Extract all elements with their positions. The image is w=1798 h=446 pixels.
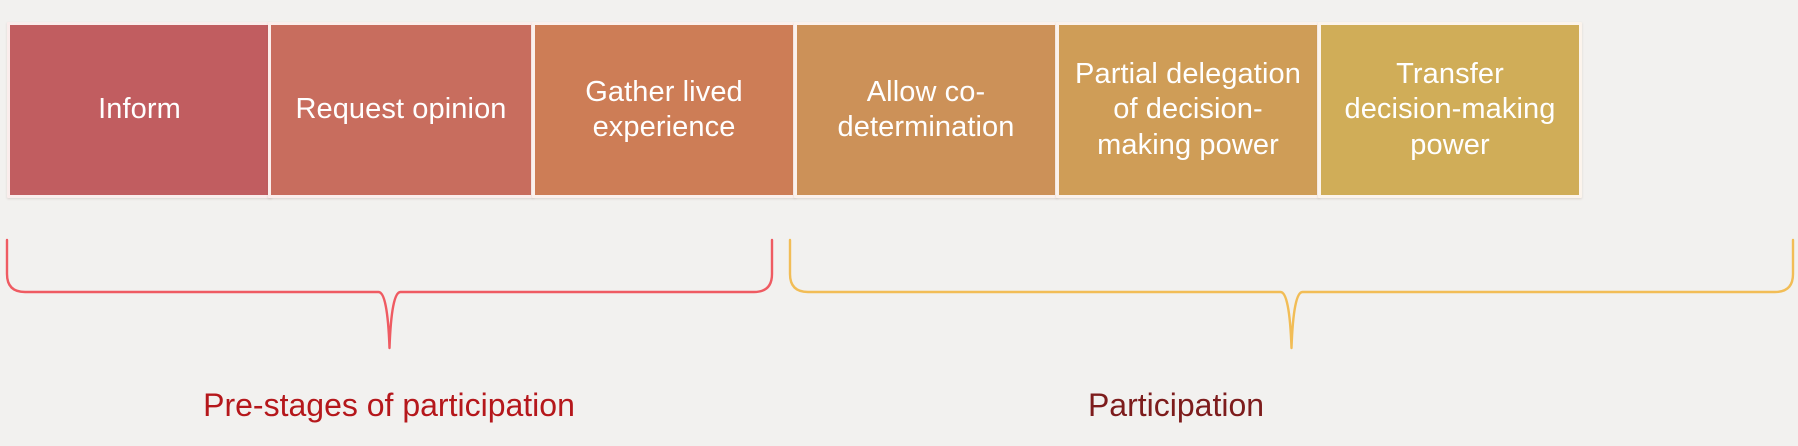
diagram-canvas: InformRequest opinionGather lived experi… — [0, 0, 1798, 446]
stage-box-label: Partial delegation of decision- making p… — [1069, 57, 1307, 163]
group-caption-participation: Participation — [672, 388, 1680, 423]
stage-boxes-row: InformRequest opinionGather lived experi… — [0, 0, 1798, 200]
stage-box-label: Transfer decision-making power — [1331, 57, 1569, 163]
stage-box-label: Allow co- determination — [807, 75, 1045, 146]
stage-box-transfer-decision-making-power[interactable]: Transfer decision-making power — [1318, 22, 1582, 198]
group-caption-pre-stages-label: Pre-stages of participation — [203, 387, 575, 423]
group-caption-pre-stages: Pre-stages of participation — [0, 388, 778, 423]
stage-box-inform[interactable]: Inform — [7, 22, 272, 198]
group-caption-participation-label: Participation — [1088, 387, 1264, 423]
stage-box-gather-lived-experience[interactable]: Gather lived experience — [532, 22, 796, 198]
stage-box-partial-delegation[interactable]: Partial delegation of decision- making p… — [1056, 22, 1320, 198]
stage-box-label: Gather lived experience — [545, 75, 783, 146]
stage-box-label: Inform — [20, 92, 259, 127]
brace-participation — [790, 240, 1793, 348]
stage-box-allow-co-determination[interactable]: Allow co- determination — [794, 22, 1058, 198]
stage-box-label: Request opinion — [281, 92, 521, 127]
stage-box-request-opinion[interactable]: Request opinion — [268, 22, 534, 198]
brace-pre-stages — [7, 240, 772, 348]
